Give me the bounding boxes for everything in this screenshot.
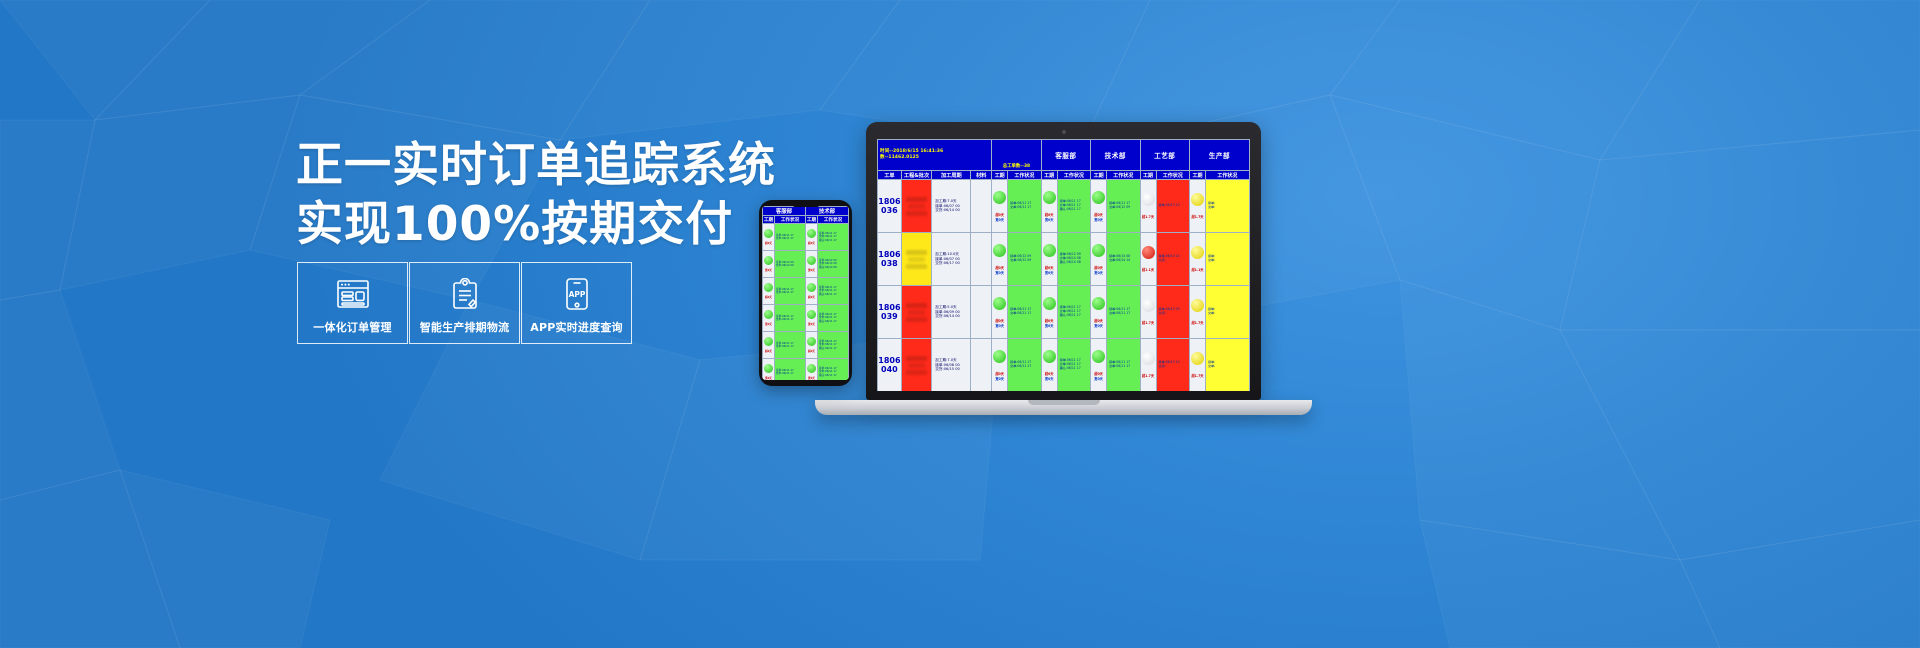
project-batch-cell[interactable] (901, 180, 932, 233)
status-dot-w (1142, 193, 1155, 206)
phone-duration-cell-left[interactable]: 宽0天 (763, 305, 775, 332)
phone-dept-header-0: 客服部 (763, 207, 806, 216)
col-header-2: 加工周期 (932, 171, 971, 180)
processing-cycle-cell[interactable]: 加工期:10.0天接单:06/07 00交货:06/17 00 (932, 233, 971, 286)
processing-cycle-cell[interactable]: 加工期:7.0天接单:06/07 00交货:06/14 00 (932, 180, 971, 233)
col-header-跟单部-1: 工作状况 (1205, 171, 1249, 180)
total-orders-label: 总工单数--38 (992, 140, 1041, 171)
status-dot-y (1191, 246, 1204, 259)
dept-duration-cell-1[interactable]: 超0天宽0天 (1041, 233, 1057, 286)
status-line-2: 交单: (1208, 259, 1247, 263)
status-dot-g (1092, 350, 1105, 363)
dept-header-3: 生产部 (1189, 140, 1249, 171)
webcam-icon (1062, 130, 1066, 134)
laptop-trackpad-notch (1028, 400, 1100, 405)
status-line-2: 交单:06/12 09 (1109, 206, 1137, 210)
phone-table-row[interactable]: 超0天接单:06/11 17交单:06/11 17超0天接单:06/11 17交… (763, 278, 849, 305)
dept-status-cell-3[interactable]: 接单:06/13 10 (1156, 180, 1189, 233)
status-dot-w (1142, 299, 1155, 312)
dashboard-window-icon (336, 275, 370, 313)
status-line-2: 交单:06/14 14 (1109, 259, 1137, 263)
dept-header-0: 客服部 (1041, 140, 1090, 171)
status-dot-g (764, 364, 773, 373)
phone-status-cell-right[interactable]: 接单:06/11 17交单:06/11 17确认:06/11 17 (818, 305, 849, 332)
dept-duration-cell-4[interactable]: 超1.7天 (1189, 286, 1205, 339)
status-line-2: 交单: (1208, 312, 1247, 316)
status-dot-y (1191, 299, 1204, 312)
status-dot-g (764, 283, 773, 292)
status-dot-g (1043, 244, 1056, 257)
status-dot-g (807, 256, 816, 265)
dept-duration-cell-3[interactable]: 超1.7天 (1140, 339, 1156, 392)
phone-table-row[interactable]: 超0天接单:06/11 17交单:06/11 17超0天接单:06/11 17交… (763, 332, 849, 359)
status-dot-g (993, 244, 1006, 257)
status-dot-y (1191, 193, 1204, 206)
table-header-row: 工单工程&批次加工周期材料工期工作状况工期工作状况工期工作状况工期工作状况工期工… (878, 171, 1250, 180)
phone-duration-cell-right[interactable]: 超0天 (805, 332, 817, 359)
order-tracking-table[interactable]: 时间--2018/6/15 16:41:36数--11462.0125总工单数-… (877, 139, 1250, 391)
feature-label-order-management: 一体化订单管理 (313, 319, 391, 335)
phone-notch (793, 203, 819, 207)
feature-card-app-progress[interactable]: APP APP实时进度查询 (521, 262, 632, 344)
phone-status-cell-left[interactable]: 接单:06/11 17交单:06/11 17 (775, 359, 806, 381)
dept-duration-cell-0[interactable]: 超0天宽0天 (992, 233, 1008, 286)
count-label: 数--11462.0125 (880, 155, 989, 161)
delivery-label: 交货:06/14 00 (935, 208, 967, 213)
dept-status-cell-2[interactable]: 接单:06/11 17交单:06/11 17 (1107, 339, 1140, 392)
phone-table-row[interactable]: 宽0天接单:06/11 17交单:06/11 17宽0天接单:06/11 17交… (763, 305, 849, 332)
table-title-row: 时间--2018/6/15 16:41:36数--11462.0125总工单数-… (878, 140, 1250, 171)
status-line-2: 交单:06/11 17 (1010, 312, 1038, 316)
mobile-app-icon: APP (565, 275, 589, 313)
phone-dept-header-1: 技术部 (805, 207, 848, 216)
dept-duration-cell-3[interactable]: 超1.7天 (1140, 286, 1156, 339)
phone-status-cell-left[interactable]: 接单:06/11 17交单:06/11 17 (775, 224, 806, 251)
phone-table-row[interactable]: 宽0天接单:06/12 09交单:06/12 09宽0天接单:06/12 09交… (763, 251, 849, 278)
table-row[interactable]: 1806038加工期:10.0天接单:06/07 00交货:06/17 00超0… (878, 233, 1250, 286)
phone-duration-cell-left[interactable]: 超0天 (763, 278, 775, 305)
dept-status-cell-1[interactable]: 接单:06/11 17交单:06/11 17确认:06/11 17 (1057, 180, 1090, 233)
processing-cycle-cell[interactable]: 加工期:5.0天接单:06/09 00交货:06/14 00 (932, 286, 971, 339)
status-line-3: 确认:06/11 17 (1060, 314, 1088, 318)
hero-copy: 正一实时订单追踪系统 实现100%按期交付 (296, 136, 816, 254)
phone-duration-cell-right[interactable]: 超0天 (805, 278, 817, 305)
status-line-2: 交单:06/11 17 (1109, 312, 1137, 316)
col-header-技术部-1: 工作状况 (1057, 171, 1090, 180)
col-header-跟单部-0: 工期 (1189, 171, 1205, 180)
phone-table-row[interactable]: 宽0天接单:06/11 17交单:06/11 17宽0天接单:06/11 17交… (763, 359, 849, 381)
dept-duration-cell-0[interactable]: 超0天宽0天 (992, 286, 1008, 339)
dept-status-cell-3[interactable]: 接单:06/14 14交货: (1156, 233, 1189, 286)
project-batch-cell[interactable] (901, 286, 932, 339)
dept-status-cell-3[interactable]: 接单:06/13 10交货: (1156, 339, 1189, 392)
dept-status-cell-1[interactable]: 接单:06/12 09交单:06/14 08确认:06/14 08 (1057, 233, 1090, 286)
status-dot-g (1092, 297, 1105, 310)
status-dot-g (993, 191, 1006, 204)
material-cell[interactable] (971, 339, 992, 392)
dept-status-cell-3[interactable]: 接单:06/12 09交货: (1156, 286, 1189, 339)
table-row[interactable]: 1806036加工期:7.0天接单:06/07 00交货:06/14 00超0天… (878, 180, 1250, 233)
table-row[interactable]: 1806040加工期:7.0天接单:06/08 00交货:06/15 00超0天… (878, 339, 1250, 392)
dept-duration-cell-1[interactable]: 超0天宽0天 (1041, 180, 1057, 233)
col-header-客服部-1: 工作状况 (1008, 171, 1041, 180)
material-cell[interactable] (971, 286, 992, 339)
feature-list: 一体化订单管理 智能生产排期物流 APP APP实时进度查询 (297, 262, 633, 344)
status-dot-y (1191, 352, 1204, 365)
dept-status-cell-2[interactable]: 接单:06/11 17交单:06/12 09 (1107, 180, 1140, 233)
status-line-1: 接单:06/13 10 (1159, 204, 1187, 208)
laptop-mockup: 时间--2018/6/15 16:41:36数--11462.0125总工单数-… (866, 122, 1312, 415)
feature-label-production-scheduling: 智能生产排期物流 (420, 319, 510, 335)
status-line-3: 确认:06/14 08 (1060, 261, 1088, 265)
status-line-2: 交单:06/11 17 (1109, 365, 1137, 369)
status-dot-g (764, 337, 773, 346)
status-line-3: 确认:06/11 17 (1060, 367, 1088, 371)
dept-duration-cell-2[interactable]: 超0天宽0天 (1091, 339, 1107, 392)
status-line-2: 交单:06/11 17 (1010, 206, 1038, 210)
dept-status-cell-0[interactable]: 接单:06/12 09交单:06/12 09 (1008, 233, 1041, 286)
phone-status-cell-right[interactable]: 接单:06/11 17交单:06/11 17确认:06/11 17 (818, 332, 849, 359)
phone-duration-cell-right[interactable]: 宽0天 (805, 305, 817, 332)
status-dot-g (807, 283, 816, 292)
phone-status-cell-right[interactable]: 接单:06/12 09交单:06/14 08确认:06/14 08 (818, 251, 849, 278)
dept-duration-cell-3[interactable]: 超1.1天 (1140, 233, 1156, 286)
status-line-2: 交货: (1159, 365, 1187, 369)
laptop-base (815, 400, 1312, 415)
phone-col-header-2: 工期 (805, 216, 817, 224)
delivery-label: 交货:06/17 00 (935, 261, 967, 266)
phone-status-cell-left[interactable]: 接单:06/11 17交单:06/11 17 (775, 305, 806, 332)
status-line-3: 确认:06/11 17 (1060, 208, 1088, 212)
col-header-1: 工程&批次 (901, 171, 932, 180)
material-cell[interactable] (971, 180, 992, 233)
project-batch-cell[interactable] (901, 339, 932, 392)
dept-status-cell-0[interactable]: 接单:06/11 17交单:06/11 17 (1008, 286, 1041, 339)
status-line-2: 交货: (1159, 259, 1187, 263)
dept-duration-cell-2[interactable]: 超0天宽0天 (1091, 286, 1107, 339)
status-line-2: 交单: (1208, 206, 1247, 210)
dept-status-cell-1[interactable]: 接单:06/11 17交单:06/11 17确认:06/11 17 (1057, 339, 1090, 392)
order-number-cell[interactable]: 1806036 (878, 180, 902, 233)
status-dot-g (807, 229, 816, 238)
delivery-label: 交货:06/15 00 (935, 367, 967, 372)
status-dot-r (1142, 246, 1155, 259)
dept-duration-cell-2[interactable]: 超0天宽0天 (1091, 180, 1107, 233)
phone-status-cell-right[interactable]: 接单:06/11 17交单:06/11 17确认:06/11 17 (818, 359, 849, 381)
status-dot-g (807, 310, 816, 319)
status-dot-g (1092, 191, 1105, 204)
status-line-2: 交单:06/12 09 (1010, 259, 1038, 263)
phone-table-row[interactable]: 超0天接单:06/11 17交单:06/11 17超0天接单:06/11 17交… (763, 224, 849, 251)
dept-status-cell-4[interactable]: 接单:交单: (1205, 233, 1249, 286)
dept-duration-cell-1[interactable]: 超0天宽0天 (1041, 286, 1057, 339)
status-dot-g (1043, 191, 1056, 204)
col-header-客服部-0: 工期 (992, 171, 1008, 180)
material-cell[interactable] (971, 233, 992, 286)
status-line-2: 交单: (1208, 365, 1247, 369)
dept-status-cell-4[interactable]: 接单:交单: (1205, 286, 1249, 339)
dept-duration-cell-0[interactable]: 超0天宽0天 (992, 339, 1008, 392)
feature-card-order-management[interactable]: 一体化订单管理 (297, 262, 408, 344)
project-batch-cell[interactable] (901, 233, 932, 286)
dept-status-cell-2[interactable]: 接单:06/14 08交单:06/14 14 (1107, 233, 1140, 286)
phone-screen[interactable]: 客服部技术部工期工作状况工期工作状况超0天接单:06/11 17交单:06/11… (762, 206, 849, 380)
phone-mockup: 客服部技术部工期工作状况工期工作状况超0天接单:06/11 17交单:06/11… (759, 200, 852, 386)
phone-duration-cell-left[interactable]: 宽0天 (763, 359, 775, 381)
dept-duration-cell-4[interactable]: 超1.7天 (1189, 339, 1205, 392)
dept-duration-cell-2[interactable]: 超0天宽0天 (1091, 233, 1107, 286)
status-dot-g (1092, 244, 1105, 257)
phone-order-tracking-table[interactable]: 客服部技术部工期工作状况工期工作状况超0天接单:06/11 17交单:06/11… (762, 206, 849, 380)
dept-status-cell-4[interactable]: 接单:交单: (1205, 339, 1249, 392)
phone-status-cell-right[interactable]: 接单:06/11 17交单:06/11 17确认:06/11 17 (818, 224, 849, 251)
order-number-cell[interactable]: 1806040 (878, 339, 902, 392)
delivery-label: 交货:06/14 00 (935, 314, 967, 319)
order-number-cell[interactable]: 1806039 (878, 286, 902, 339)
phone-col-header-0: 工期 (763, 216, 775, 224)
feature-card-production-scheduling[interactable]: 智能生产排期物流 (409, 262, 520, 344)
status-dot-g (807, 337, 816, 346)
dept-status-cell-4[interactable]: 接单:交单: (1205, 180, 1249, 233)
phone-status-cell-left[interactable]: 接单:06/11 17交单:06/11 17 (775, 278, 806, 305)
dept-status-cell-1[interactable]: 接单:06/11 17交单:06/11 17确认:06/11 17 (1057, 286, 1090, 339)
page-title-line1: 正一实时订单追踪系统 (296, 136, 816, 195)
laptop-screen[interactable]: 时间--2018/6/15 16:41:36数--11462.0125总工单数-… (877, 139, 1250, 391)
phone-col-header-1: 工作状况 (775, 216, 806, 224)
phone-dept-header-row: 客服部技术部 (763, 207, 849, 216)
laptop-lid: 时间--2018/6/15 16:41:36数--11462.0125总工单数-… (866, 122, 1261, 400)
phone-duration-cell-left[interactable]: 超0天 (763, 224, 775, 251)
col-header-工艺部-0: 工期 (1091, 171, 1107, 180)
dept-duration-cell-4[interactable]: 超1.7天 (1189, 180, 1205, 233)
status-dot-g (764, 229, 773, 238)
dept-status-cell-0[interactable]: 接单:06/11 17交单:06/11 17 (1008, 339, 1041, 392)
col-header-0: 工单 (878, 171, 902, 180)
status-dot-w (1142, 352, 1155, 365)
phone-duration-cell-left[interactable]: 超0天 (763, 332, 775, 359)
status-line-2: 交单:06/11 17 (1010, 365, 1038, 369)
phone-col-header-3: 工作状况 (818, 216, 849, 224)
status-dot-g (764, 256, 773, 265)
phone-duration-cell-left[interactable]: 宽0天 (763, 251, 775, 278)
dept-status-cell-2[interactable]: 接单:06/11 17交单:06/11 17 (1107, 286, 1140, 339)
status-dot-g (1043, 297, 1056, 310)
phone-col-header-row: 工期工作状况工期工作状况 (763, 216, 849, 224)
phone-duration-cell-right[interactable]: 宽0天 (805, 359, 817, 381)
dept-status-cell-0[interactable]: 接单:06/11 17交单:06/11 17 (1008, 180, 1041, 233)
dept-duration-cell-1[interactable]: 超0天宽0天 (1041, 339, 1057, 392)
phone-status-cell-left[interactable]: 接单:06/12 09交单:06/12 09 (775, 251, 806, 278)
status-dot-g (764, 310, 773, 319)
phone-status-cell-left[interactable]: 接单:06/11 17交单:06/11 17 (775, 332, 806, 359)
col-header-3: 材料 (971, 171, 992, 180)
phone-duration-cell-right[interactable]: 超0天 (805, 224, 817, 251)
status-dot-g (993, 350, 1006, 363)
col-header-技术部-0: 工期 (1041, 171, 1057, 180)
phone-status-cell-right[interactable]: 接单:06/11 17交单:06/11 17确认:06/11 17 (818, 278, 849, 305)
phone-duration-cell-right[interactable]: 宽0天 (805, 251, 817, 278)
table-row[interactable]: 1806039加工期:5.0天接单:06/09 00交货:06/14 00超0天… (878, 286, 1250, 339)
col-header-生产部-0: 工期 (1140, 171, 1156, 180)
title-bar-left: 时间--2018/6/15 16:41:36数--11462.0125 (878, 140, 992, 171)
page-title-line2: 实现100%按期交付 (296, 195, 816, 254)
dept-duration-cell-4[interactable]: 超1.1天 (1189, 233, 1205, 286)
dept-header-1: 技术部 (1091, 140, 1140, 171)
order-number-cell[interactable]: 1806038 (878, 233, 902, 286)
col-header-生产部-1: 工作状况 (1156, 171, 1189, 180)
app-badge-text: APP (568, 290, 585, 299)
status-line-2: 交货: (1159, 312, 1187, 316)
dept-duration-cell-3[interactable]: 超1.7天 (1140, 180, 1156, 233)
status-dot-g (807, 364, 816, 373)
status-dot-g (993, 297, 1006, 310)
status-dot-g (1043, 350, 1056, 363)
dept-header-2: 工艺部 (1140, 140, 1189, 171)
clipboard-pencil-icon (450, 275, 480, 313)
processing-cycle-cell[interactable]: 加工期:7.0天接单:06/08 00交货:06/15 00 (932, 339, 971, 392)
feature-label-app-progress: APP实时进度查询 (530, 319, 622, 335)
dept-duration-cell-0[interactable]: 超0天宽0天 (992, 180, 1008, 233)
col-header-工艺部-1: 工作状况 (1107, 171, 1140, 180)
